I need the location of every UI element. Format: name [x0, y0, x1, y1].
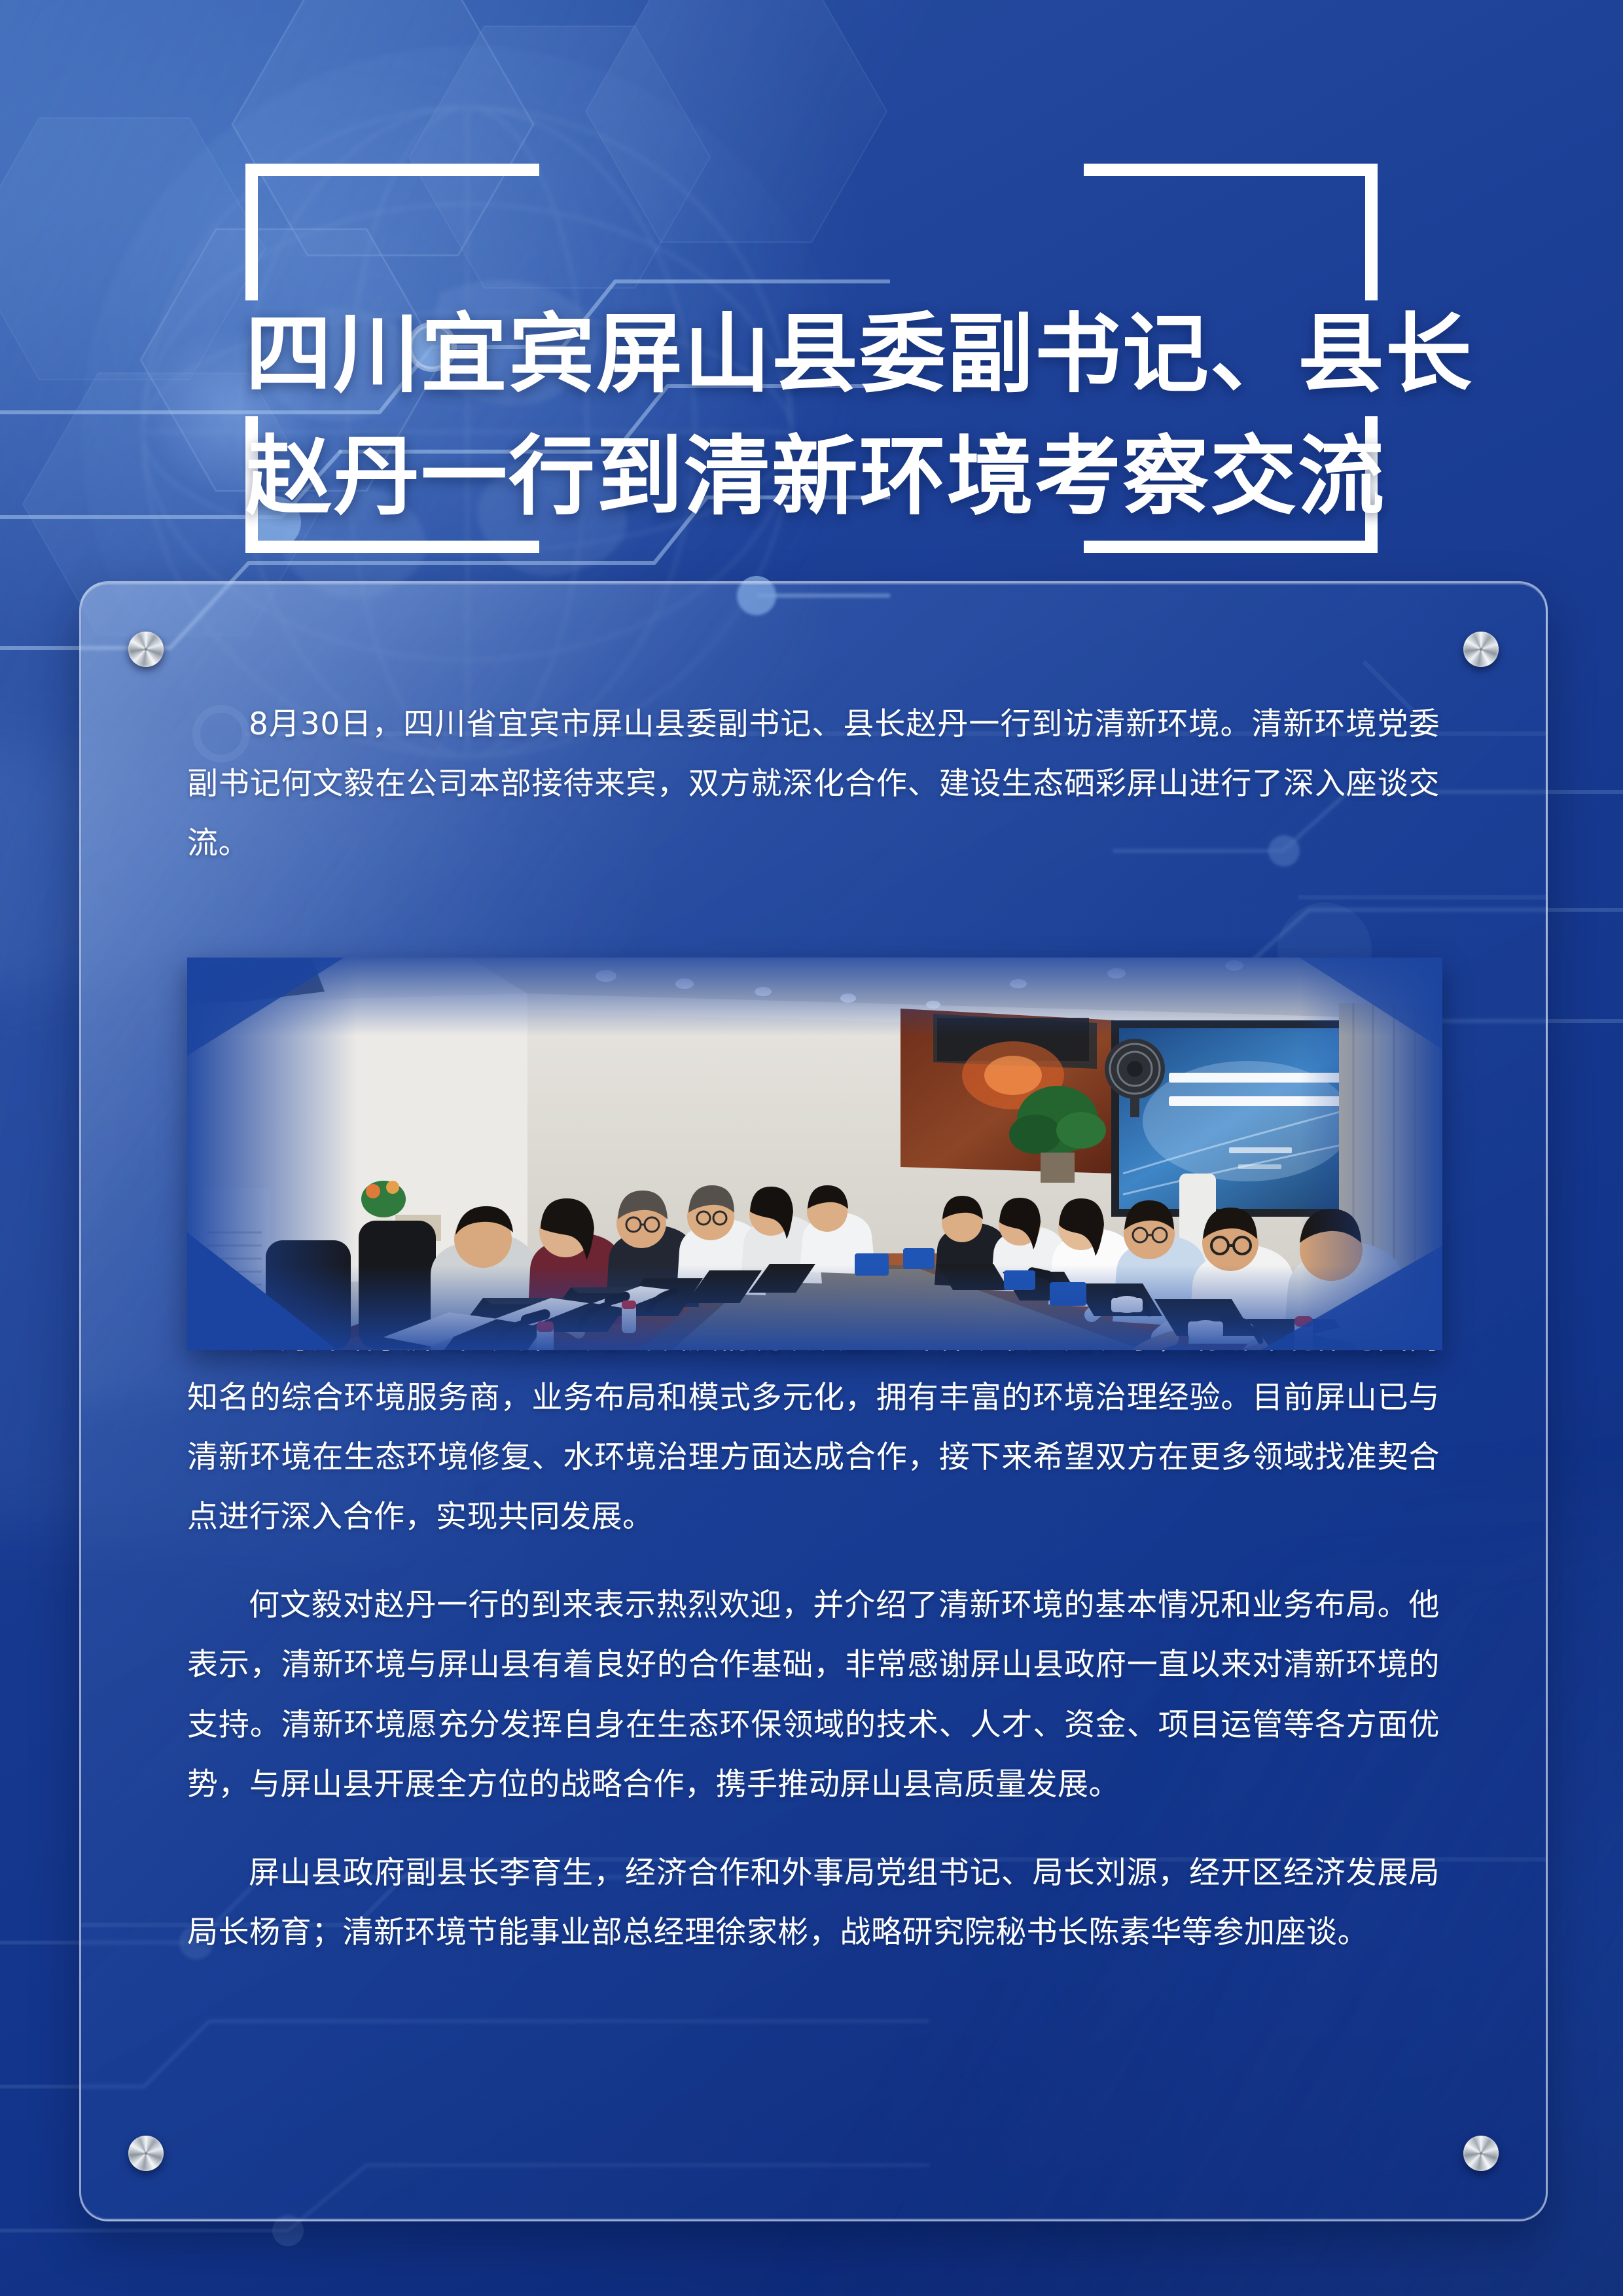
- meeting-photo: [187, 958, 1442, 1350]
- screw-icon-bottom-left: [128, 2136, 164, 2171]
- article-paragraph: 屏山县政府副县长李育生，经济合作和外事局党组书记、局长刘源，经开区经济发展局局长…: [187, 1843, 1440, 1962]
- content-card: 8月30日，四川省宜宾市屏山县委副书记、县长赵丹一行到访清新环境。清新环境党委副…: [79, 581, 1548, 2221]
- article-paragraph: 8月30日，四川省宜宾市屏山县委副书记、县长赵丹一行到访清新环境。清新环境党委副…: [187, 694, 1440, 874]
- screw-icon-top-right: [1463, 632, 1499, 667]
- page-title-line-1: 四川宜宾屏山县委副书记、县长: [245, 294, 1378, 416]
- page-title-line-2: 赵丹一行到清新环境考察交流: [245, 416, 1378, 539]
- poster-title-block: 四川宜宾屏山县委副书记、县长 赵丹一行到清新环境考察交流: [245, 164, 1378, 553]
- screw-icon-bottom-right: [1463, 2136, 1499, 2171]
- poster-root: 四川宜宾屏山县委副书记、县长 赵丹一行到清新环境考察交流: [0, 0, 1623, 2296]
- page-title: 四川宜宾屏山县委副书记、县长 赵丹一行到清新环境考察交流: [245, 294, 1378, 539]
- bracket-top-left-icon: [245, 164, 539, 300]
- bracket-top-right-icon: [1084, 164, 1378, 300]
- screw-icon-top-left: [128, 632, 164, 667]
- article-paragraph: 何文毅对赵丹一行的到来表示热烈欢迎，并介绍了清新环境的基本情况和业务布局。他表示…: [187, 1575, 1440, 1814]
